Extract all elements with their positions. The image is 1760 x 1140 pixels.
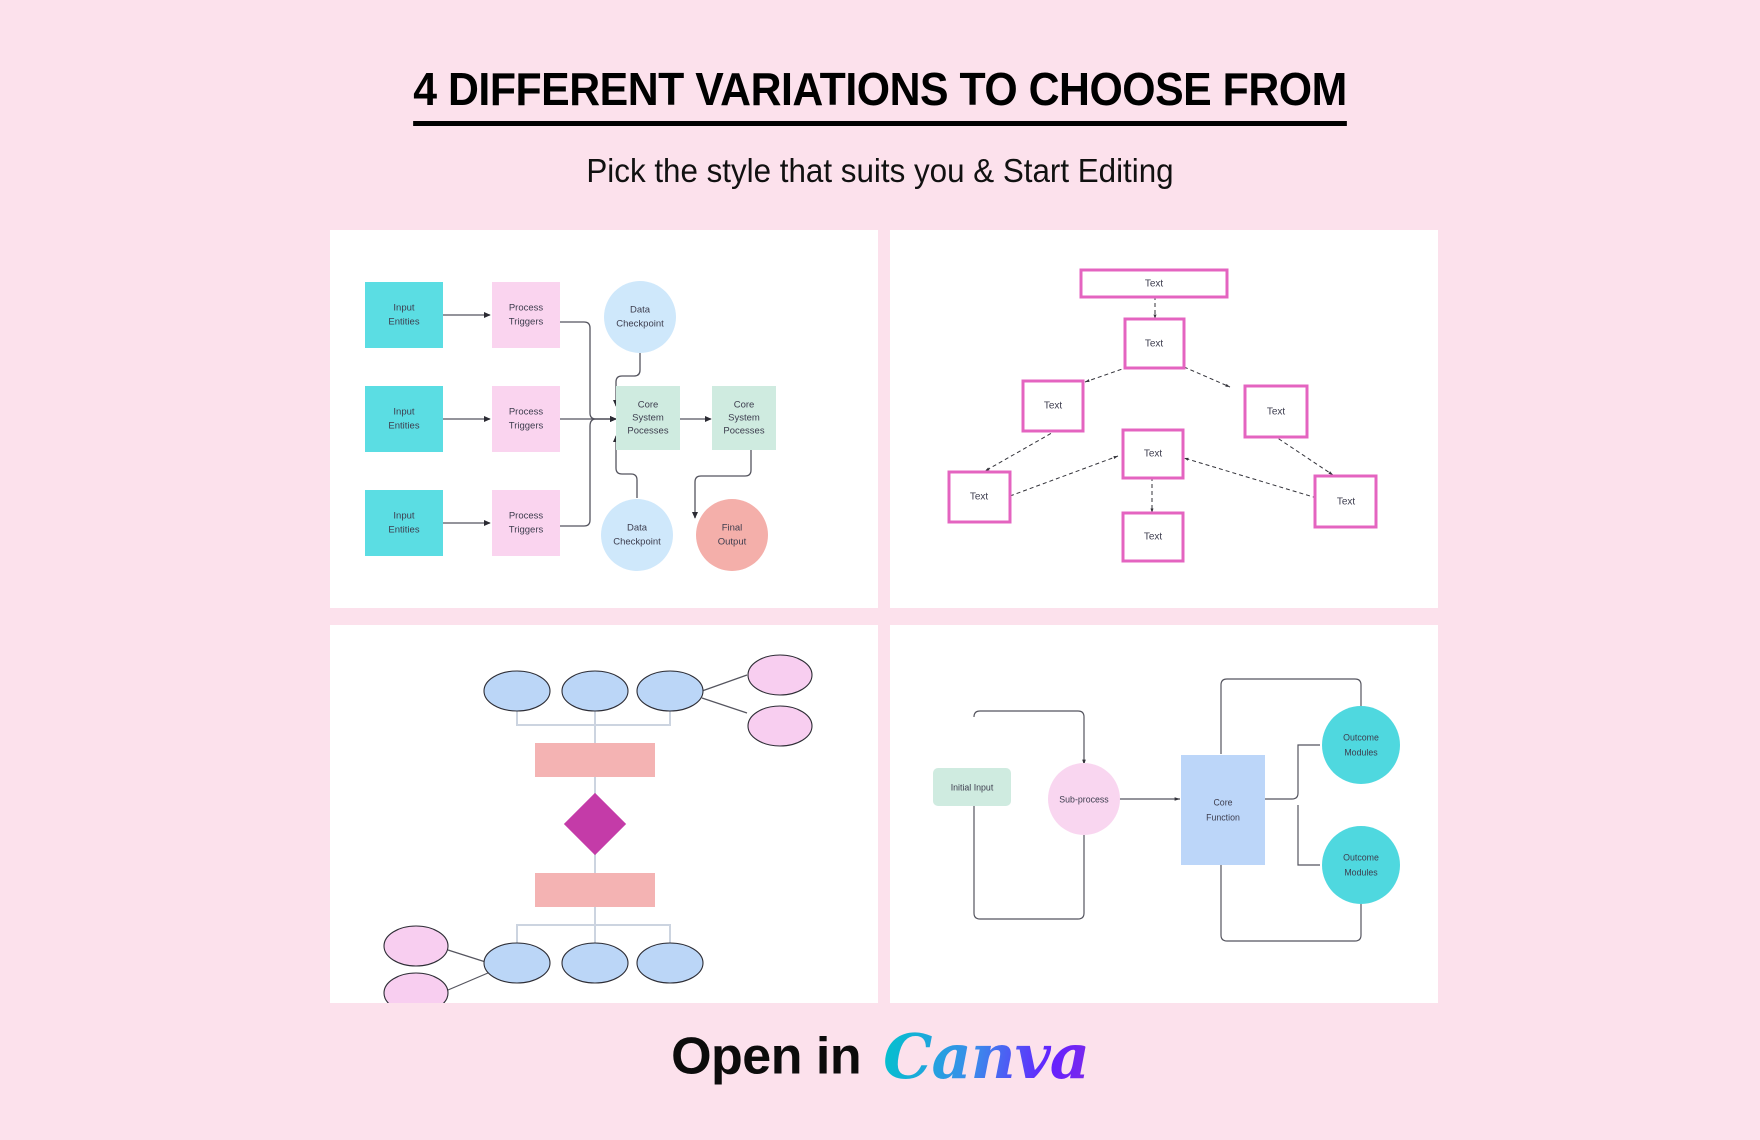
page-title: 4 DIFFERENT VARIATIONS TO CHOOSE FROM: [62, 62, 1699, 126]
bar-salmon-1[interactable]: [535, 743, 655, 777]
tree-node-5[interactable]: Text: [949, 472, 1010, 522]
node-process-triggers-3[interactable]: Process Triggers: [492, 490, 560, 556]
svg-text:Entities: Entities: [388, 525, 419, 536]
svg-text:Data: Data: [627, 523, 648, 534]
svg-text:Modules: Modules: [1344, 867, 1378, 877]
svg-text:Triggers: Triggers: [509, 421, 544, 432]
svg-text:Initial Input: Initial Input: [951, 782, 994, 792]
canva-logo-wordmark[interactable]: Canva: [883, 1020, 1089, 1093]
svg-text:Text: Text: [1145, 279, 1164, 290]
flowchart-variation-1: Input Entities Input Entities Input Enti…: [330, 230, 878, 608]
svg-text:Text: Text: [1144, 449, 1163, 460]
svg-text:Text: Text: [1267, 407, 1286, 418]
diamond-decision[interactable]: [564, 793, 626, 855]
svg-text:System: System: [728, 413, 760, 424]
svg-text:Text: Text: [1144, 532, 1163, 543]
ellipse-blue-3[interactable]: [637, 671, 703, 711]
ellipse-pink-3[interactable]: [384, 926, 448, 966]
page-subtitle: Pick the style that suits you & Start Ed…: [44, 152, 1716, 190]
svg-text:Sub-process: Sub-process: [1059, 794, 1109, 804]
loop-variation-4: Initial Input Sub-process Core Function …: [890, 625, 1438, 1003]
tree-node-4[interactable]: Text: [1245, 386, 1307, 437]
ellipse-pink-2[interactable]: [748, 706, 812, 746]
node-data-checkpoint-1[interactable]: Data Checkpoint: [604, 281, 676, 353]
ellipse-blue-4[interactable]: [484, 943, 550, 983]
svg-text:Text: Text: [1145, 339, 1164, 350]
svg-text:Input: Input: [393, 407, 414, 418]
node-input-entities-1[interactable]: Input Entities: [365, 282, 443, 348]
svg-text:Process: Process: [509, 303, 544, 314]
svg-text:Pocesses: Pocesses: [723, 426, 764, 437]
node-data-checkpoint-2[interactable]: Data Checkpoint: [601, 499, 673, 571]
node-outcome-modules-1[interactable]: Outcome Modules: [1322, 706, 1400, 784]
svg-text:System: System: [632, 413, 664, 424]
bar-salmon-2[interactable]: [535, 873, 655, 907]
ellipse-blue-5[interactable]: [562, 943, 628, 983]
svg-text:Text: Text: [1044, 401, 1063, 412]
svg-text:Modules: Modules: [1344, 747, 1378, 757]
ellipse-pink-4[interactable]: [384, 973, 448, 1003]
svg-text:Output: Output: [718, 537, 747, 548]
svg-text:Core: Core: [1213, 797, 1232, 807]
svg-text:Checkpoint: Checkpoint: [616, 319, 664, 330]
open-in-label: Open in: [671, 1028, 861, 1086]
node-core-system-2[interactable]: Core System Pocesses: [712, 386, 776, 450]
node-core-function[interactable]: Core Function: [1181, 755, 1265, 865]
svg-text:Function: Function: [1206, 812, 1240, 822]
tree-node-3[interactable]: Text: [1023, 381, 1083, 431]
node-input-entities-3[interactable]: Input Entities: [365, 490, 443, 556]
node-input-entities-2[interactable]: Input Entities: [365, 386, 443, 452]
svg-text:Triggers: Triggers: [509, 525, 544, 536]
svg-text:Checkpoint: Checkpoint: [613, 537, 661, 548]
svg-text:Outcome: Outcome: [1343, 852, 1379, 862]
ellipse-pink-1[interactable]: [748, 655, 812, 695]
svg-text:Core: Core: [638, 400, 659, 411]
variation-card-1[interactable]: Input Entities Input Entities Input Enti…: [330, 230, 878, 608]
ellipse-blue-6[interactable]: [637, 943, 703, 983]
svg-text:Core: Core: [734, 400, 755, 411]
node-final-output[interactable]: Final Output: [696, 499, 768, 571]
svg-text:Final: Final: [722, 523, 743, 534]
node-sub-process[interactable]: Sub-process: [1048, 763, 1120, 835]
variation-card-3[interactable]: [330, 625, 878, 1003]
node-outcome-modules-2[interactable]: Outcome Modules: [1322, 826, 1400, 904]
node-initial-input[interactable]: Initial Input: [933, 768, 1011, 806]
tree-node-7[interactable]: Text: [1315, 476, 1376, 527]
tree-node-8[interactable]: Text: [1123, 513, 1183, 561]
svg-text:Process: Process: [509, 407, 544, 418]
tree-variation-2: Text Text Text Text Text Text: [890, 230, 1438, 608]
svg-text:Triggers: Triggers: [509, 317, 544, 328]
ellipse-blue-1[interactable]: [484, 671, 550, 711]
node-core-system-1[interactable]: Core System Pocesses: [616, 386, 680, 450]
variation-card-4[interactable]: Initial Input Sub-process Core Function …: [890, 625, 1438, 1003]
slide-canvas: 4 DIFFERENT VARIATIONS TO CHOOSE FROM Pi…: [0, 0, 1760, 1140]
node-process-triggers-2[interactable]: Process Triggers: [492, 386, 560, 452]
svg-text:Input: Input: [393, 511, 414, 522]
svg-text:Outcome: Outcome: [1343, 732, 1379, 742]
tree-node-root[interactable]: Text: [1081, 270, 1227, 297]
svg-text:Pocesses: Pocesses: [627, 426, 668, 437]
node-process-triggers-1[interactable]: Process Triggers: [492, 282, 560, 348]
svg-text:Entities: Entities: [388, 421, 419, 432]
svg-text:Entities: Entities: [388, 317, 419, 328]
svg-text:Process: Process: [509, 511, 544, 522]
svg-text:Input: Input: [393, 303, 414, 314]
org-variation-3: [330, 625, 878, 1003]
footer-cta[interactable]: Open inCanva: [0, 1020, 1760, 1093]
variation-card-2[interactable]: Text Text Text Text Text Text: [890, 230, 1438, 608]
svg-text:Data: Data: [630, 305, 651, 316]
tree-node-6[interactable]: Text: [1123, 430, 1183, 478]
tree-node-2[interactable]: Text: [1125, 319, 1184, 368]
page-title-text: 4 DIFFERENT VARIATIONS TO CHOOSE FROM: [413, 62, 1347, 126]
ellipse-blue-2[interactable]: [562, 671, 628, 711]
svg-text:Text: Text: [1337, 497, 1356, 508]
svg-text:Text: Text: [970, 492, 989, 503]
